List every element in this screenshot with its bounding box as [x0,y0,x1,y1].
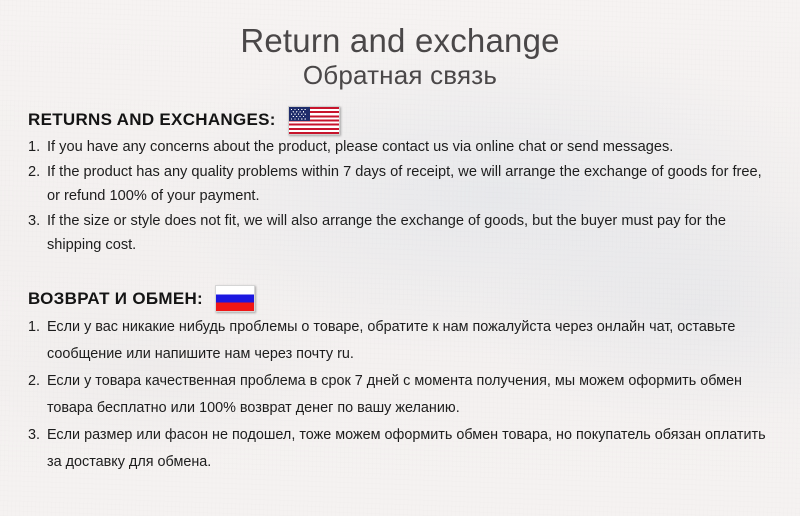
list-item: 3. Если размер или фасон не подошел, тож… [28,422,778,476]
section-heading-label-english: RETURNS AND EXCHANGES: [28,110,276,130]
return-and-exchange-page: Return and exchange Обратная связь RETUR… [0,0,800,516]
list-item-marker: 3. [28,422,40,449]
list-item-marker: 2. [28,160,40,185]
list-item-text: If you have any concerns about the produ… [47,135,778,160]
page-title-english: Return and exchange [0,22,800,60]
page-title-russian: Обратная связь [0,60,800,91]
section-heading-russian: ВОЗВРАТ И ОБМЕН: [28,284,778,314]
list-item: 1. If you have any concerns about the pr… [28,135,778,160]
list-item-text: Если у товара качественная проблема в ср… [47,368,778,422]
list-item: 2. If the product has any quality proble… [28,160,778,209]
us-flag-icon [288,106,340,135]
section-heading-label-russian: ВОЗВРАТ И ОБМЕН: [28,289,203,309]
list-item-text: Если у вас никакие нибудь проблемы о тов… [47,314,778,368]
us-flag-canton [289,107,310,122]
list-item: 1. Если у вас никакие нибудь проблемы о … [28,314,778,368]
list-item-marker: 3. [28,209,40,234]
section-heading-english: RETURNS AND EXCHANGES: [28,105,778,135]
list-item-marker: 1. [28,135,40,160]
list-item: 3. If the size or style does not fit, we… [28,209,778,258]
list-item-marker: 2. [28,368,40,395]
page-title-block: Return and exchange Обратная связь [0,0,800,91]
list-item-marker: 1. [28,314,40,341]
section-returns-and-exchanges-english: RETURNS AND EXCHANGES: 1. If you have an… [0,105,800,258]
list-item-text: Если размер или фасон не подошел, тоже м… [47,422,778,476]
ru-flag-icon [215,285,255,312]
section-returns-and-exchanges-russian: ВОЗВРАТ И ОБМЕН: 1. Если у вас никакие н… [0,284,800,476]
list-item: 2. Если у товара качественная проблема в… [28,368,778,422]
returns-policy-list-russian: 1. Если у вас никакие нибудь проблемы о … [28,314,778,476]
list-item-text: If the size or style does not fit, we wi… [47,209,778,258]
returns-policy-list-english: 1. If you have any concerns about the pr… [28,135,778,258]
list-item-text: If the product has any quality problems … [47,160,778,209]
